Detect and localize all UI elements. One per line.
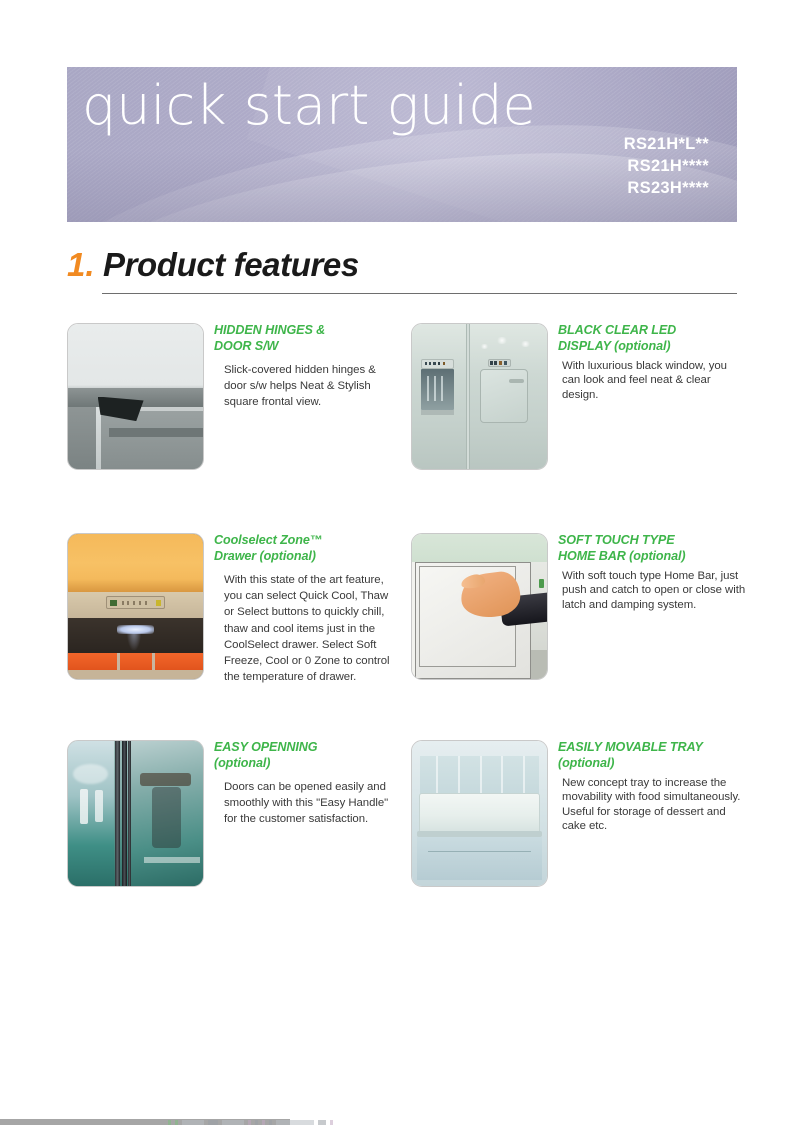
feature-coolselect-zone-drawer-body: With this state of the art feature, you … [224, 572, 394, 685]
title-line: Coolselect Zone™ [214, 533, 394, 549]
header-banner: quick start guide RS21H*L** RS21H**** RS… [67, 67, 737, 222]
feature-coolselect-zone-drawer-text: Coolselect Zone™ Drawer (optional) With … [214, 533, 394, 685]
title-line: BLACK CLEAR LED [558, 323, 748, 339]
feature-easy-openning-title: EASY OPENNING (optional) [214, 740, 394, 772]
model-number-1: RS21H*L** [624, 134, 709, 156]
section-divider [102, 293, 737, 294]
feature-easy-openning-text: EASY OPENNING (optional) Doors can be op… [214, 740, 394, 828]
feature-hidden-hinges-text: HIDDEN HINGES & DOOR S/W Slick-covered h… [214, 323, 394, 411]
movable-tray-photo [411, 740, 548, 887]
feature-easily-movable-tray-text: EASILY MOVABLE TRAY (optional) New conce… [558, 740, 748, 834]
section-heading: 1. Product features [67, 248, 737, 296]
easy-opening-doors-photo [67, 740, 204, 887]
banner-title: quick start guide [82, 75, 536, 137]
title-line: DOOR S/W [214, 339, 394, 355]
section-number: 1. [67, 248, 95, 281]
feature-soft-touch-home-bar-body: With soft touch type Home Bar, just push… [562, 569, 748, 612]
title-line: (optional) [214, 756, 394, 772]
title-line: Drawer (optional) [214, 549, 394, 565]
feature-easy-openning-body: Doors can be opened easily and smoothly … [224, 779, 394, 828]
feature-coolselect-zone-drawer-title: Coolselect Zone™ Drawer (optional) [214, 533, 394, 565]
feature-black-clear-led-display-text: BLACK CLEAR LED DISPLAY (optional) With … [558, 323, 748, 402]
feature-hidden-hinges-body: Slick-covered hidden hinges & door s/w h… [224, 362, 394, 411]
home-bar-photo [411, 533, 548, 680]
title-line: HIDDEN HINGES & [214, 323, 394, 339]
led-display-photo [411, 323, 548, 470]
feature-hidden-hinges-title: HIDDEN HINGES & DOOR S/W [214, 323, 394, 355]
feature-easily-movable-tray-title: EASILY MOVABLE TRAY (optional) [558, 740, 748, 772]
feature-black-clear-led-display-title: BLACK CLEAR LED DISPLAY (optional) [558, 323, 748, 355]
model-number-list: RS21H*L** RS21H**** RS23H**** [624, 134, 709, 200]
title-line: DISPLAY (optional) [558, 339, 748, 355]
feature-black-clear-led-display-body: With luxurious black window, you can loo… [562, 359, 748, 402]
title-line: EASY OPENNING [214, 740, 394, 756]
title-line: (optional) [558, 756, 748, 772]
hidden-hinge-photo [67, 323, 204, 470]
model-number-3: RS23H**** [624, 178, 709, 200]
section-title: Product features [103, 248, 359, 281]
coolselect-drawer-photo [67, 533, 204, 680]
quick-start-guide-page: quick start guide RS21H*L** RS21H**** RS… [0, 0, 802, 1125]
title-line: EASILY MOVABLE TRAY [558, 740, 748, 756]
title-line: SOFT TOUCH TYPE [558, 533, 748, 549]
model-number-2: RS21H**** [624, 156, 709, 178]
feature-soft-touch-home-bar-text: SOFT TOUCH TYPE HOME BAR (optional) With… [558, 533, 748, 612]
feature-easily-movable-tray-body: New concept tray to increase the movabil… [562, 776, 748, 834]
feature-soft-touch-home-bar-title: SOFT TOUCH TYPE HOME BAR (optional) [558, 533, 748, 565]
title-line: HOME BAR (optional) [558, 549, 748, 565]
footer-cropped-text-marks [168, 1117, 333, 1125]
